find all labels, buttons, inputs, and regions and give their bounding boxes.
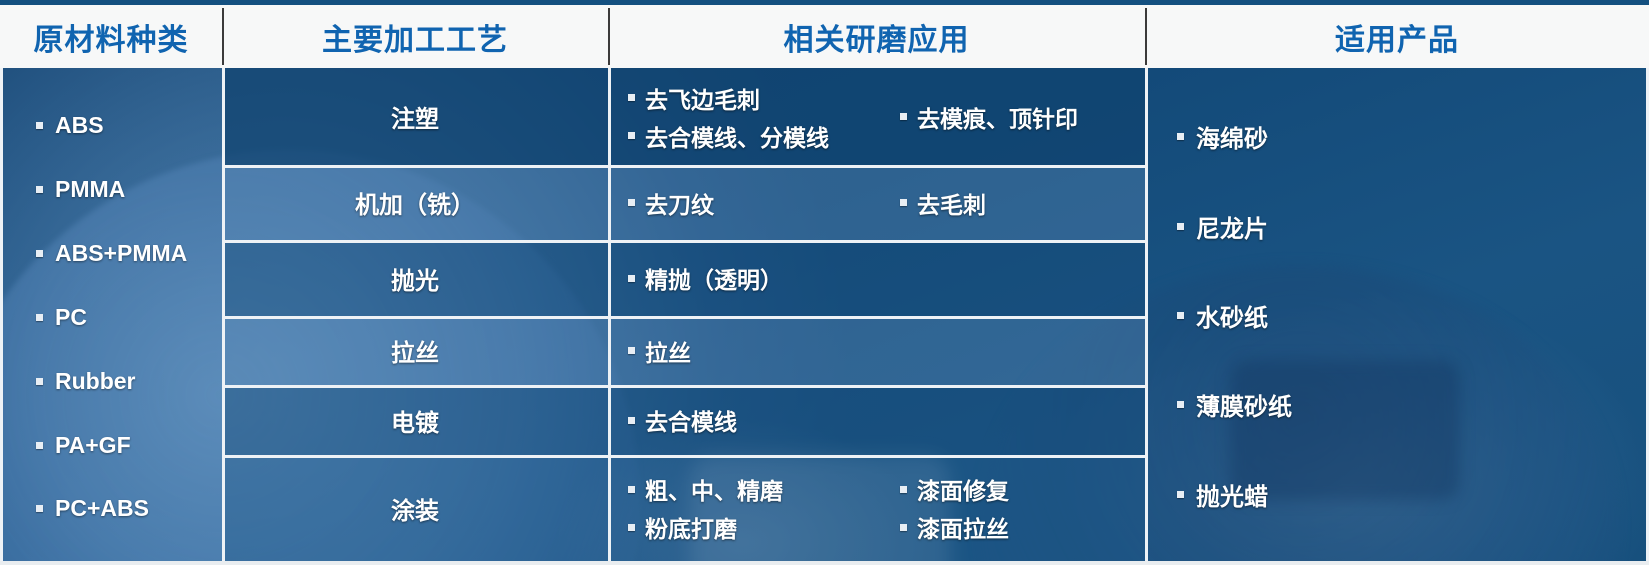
application-grid: 精抛（透明） xyxy=(608,261,1145,295)
raw-material-list: ABS PMMA ABS+PMMA PC Rubber xyxy=(0,68,222,561)
application-grid: 粗、中、精磨 粉底打磨 漆面修复 xyxy=(608,472,1145,544)
list-item: 漆面拉丝 xyxy=(900,510,1145,544)
square-bullet-icon xyxy=(628,94,635,101)
square-bullet-icon xyxy=(36,505,43,512)
list-item: 漆面修复 xyxy=(900,472,1145,506)
material-label: PC+ABS xyxy=(55,495,149,522)
product-list: 海绵砂 尼龙片 水砂纸 薄膜砂纸 抛光蜡 xyxy=(1145,68,1649,561)
list-item: PMMA xyxy=(36,176,222,203)
table-body: ABS PMMA ABS+PMMA PC Rubber xyxy=(0,68,1649,561)
list-item: 薄膜砂纸 xyxy=(1177,387,1649,422)
application-subcolumn-left: 拉丝 xyxy=(628,334,900,368)
application-label: 拉丝 xyxy=(645,334,691,368)
material-label: PMMA xyxy=(55,176,125,203)
application-label: 去毛刺 xyxy=(917,186,986,220)
product-label: 薄膜砂纸 xyxy=(1196,387,1292,422)
application-subcolumn-left: 去飞边毛刺 去合模线、分模线 xyxy=(628,81,900,153)
list-item: 粉底打磨 xyxy=(628,510,900,544)
table-row: 去刀纹 去毛刺 xyxy=(608,165,1145,240)
table-top-rim xyxy=(0,0,1649,5)
table-row: 注塑 xyxy=(222,68,608,165)
application-label: 去刀纹 xyxy=(645,186,714,220)
material-label: ABS xyxy=(55,112,104,139)
list-item: 水砂纸 xyxy=(1177,298,1649,333)
table-row: 拉丝 xyxy=(608,316,1145,385)
application-subcolumn-left: 粗、中、精磨 粉底打磨 xyxy=(628,472,900,544)
application-label: 去飞边毛刺 xyxy=(645,81,760,115)
application-label: 去模痕、顶针印 xyxy=(917,100,1078,134)
header-label-applicable-products: 适用产品 xyxy=(1335,15,1459,59)
list-item: PC xyxy=(36,304,222,331)
square-bullet-icon xyxy=(36,442,43,449)
process-label: 拉丝 xyxy=(222,333,608,368)
square-bullet-icon xyxy=(1177,223,1184,230)
square-bullet-icon xyxy=(36,122,43,129)
square-bullet-icon xyxy=(900,113,907,120)
application-subcolumn-right: 漆面修复 漆面拉丝 xyxy=(900,472,1145,544)
material-label: PC xyxy=(55,304,87,331)
application-label: 去合模线、分模线 xyxy=(645,119,829,153)
material-label: PA+GF xyxy=(55,432,131,459)
process-label: 涂装 xyxy=(222,491,608,526)
application-grid: 拉丝 xyxy=(608,334,1145,368)
header-cell-main-processing-technology: 主要加工工艺 xyxy=(222,5,608,68)
square-bullet-icon xyxy=(628,132,635,139)
column-raw-material-types: ABS PMMA ABS+PMMA PC Rubber xyxy=(0,68,222,561)
product-label: 海绵砂 xyxy=(1196,119,1268,154)
square-bullet-icon xyxy=(1177,312,1184,319)
list-item: 粗、中、精磨 xyxy=(628,472,900,506)
table-row: 粗、中、精磨 粉底打磨 漆面修复 xyxy=(608,455,1145,561)
header-cell-related-abrasive-applications: 相关研磨应用 xyxy=(608,5,1145,68)
square-bullet-icon xyxy=(36,250,43,257)
list-item: 去飞边毛刺 xyxy=(628,81,900,115)
application-label: 粗、中、精磨 xyxy=(645,472,783,506)
square-bullet-icon xyxy=(628,347,635,354)
product-label: 水砂纸 xyxy=(1196,298,1268,333)
spec-table: 原材料种类 主要加工工艺 相关研磨应用 适用产品 ABS PMMA xyxy=(0,0,1649,565)
column-applicable-products: 海绵砂 尼龙片 水砂纸 薄膜砂纸 抛光蜡 xyxy=(1145,68,1649,561)
application-subcolumn-right: 去毛刺 xyxy=(900,186,1145,220)
list-item: ABS xyxy=(36,112,222,139)
application-grid: 去合模线 xyxy=(608,403,1145,437)
list-item: ABS+PMMA xyxy=(36,240,222,267)
list-item: PA+GF xyxy=(36,432,222,459)
process-label: 注塑 xyxy=(222,99,608,134)
table-row: 涂装 xyxy=(222,455,608,561)
square-bullet-icon xyxy=(900,199,907,206)
table-row: 去合模线 xyxy=(608,385,1145,455)
process-label: 电镀 xyxy=(222,403,608,438)
material-label: Rubber xyxy=(55,368,136,395)
application-label: 粉底打磨 xyxy=(645,510,737,544)
list-item: 精抛（透明） xyxy=(628,261,900,295)
table-row: 电镀 xyxy=(222,385,608,455)
list-item: Rubber xyxy=(36,368,222,395)
list-item: 去毛刺 xyxy=(900,186,1145,220)
application-rows: 去飞边毛刺 去合模线、分模线 去模痕、顶针印 xyxy=(608,68,1145,561)
square-bullet-icon xyxy=(36,186,43,193)
application-label: 漆面拉丝 xyxy=(917,510,1009,544)
material-label: ABS+PMMA xyxy=(55,240,187,267)
product-label: 抛光蜡 xyxy=(1196,477,1268,512)
table-bottom-rim xyxy=(0,561,1649,565)
header-label-main-processing-technology: 主要加工工艺 xyxy=(322,15,508,59)
table-row: 抛光 xyxy=(222,240,608,316)
list-item: 去刀纹 xyxy=(628,186,900,220)
table-row: 机加（铣） xyxy=(222,165,608,240)
list-item: 抛光蜡 xyxy=(1177,477,1649,512)
square-bullet-icon xyxy=(900,524,907,531)
header-cell-raw-material-types: 原材料种类 xyxy=(0,5,222,68)
list-item: 拉丝 xyxy=(628,334,900,368)
list-item: 去模痕、顶针印 xyxy=(900,100,1145,134)
table-row: 拉丝 xyxy=(222,316,608,385)
header-label-raw-material-types: 原材料种类 xyxy=(34,15,189,59)
square-bullet-icon xyxy=(36,314,43,321)
process-label: 抛光 xyxy=(222,261,608,296)
table-header-row: 原材料种类 主要加工工艺 相关研磨应用 适用产品 xyxy=(0,5,1649,68)
column-main-processing-technology: 注塑 机加（铣） 抛光 拉丝 电镀 涂装 xyxy=(222,68,608,561)
application-grid: 去刀纹 去毛刺 xyxy=(608,186,1145,220)
list-item: PC+ABS xyxy=(36,495,222,522)
square-bullet-icon xyxy=(36,378,43,385)
square-bullet-icon xyxy=(1177,401,1184,408)
application-grid: 去飞边毛刺 去合模线、分模线 去模痕、顶针印 xyxy=(608,81,1145,153)
square-bullet-icon xyxy=(628,199,635,206)
square-bullet-icon xyxy=(628,486,635,493)
square-bullet-icon xyxy=(1177,133,1184,140)
square-bullet-icon xyxy=(1177,491,1184,498)
square-bullet-icon xyxy=(900,486,907,493)
application-subcolumn-left: 去刀纹 xyxy=(628,186,900,220)
square-bullet-icon xyxy=(628,524,635,531)
square-bullet-icon xyxy=(628,417,635,424)
application-label: 精抛（透明） xyxy=(645,261,783,295)
list-item: 尼龙片 xyxy=(1177,209,1649,244)
list-item: 去合模线 xyxy=(628,403,900,437)
application-label: 去合模线 xyxy=(645,403,737,437)
table-row: 去飞边毛刺 去合模线、分模线 去模痕、顶针印 xyxy=(608,68,1145,165)
product-label: 尼龙片 xyxy=(1196,209,1268,244)
application-subcolumn-left: 精抛（透明） xyxy=(628,261,900,295)
process-rows: 注塑 机加（铣） 抛光 拉丝 电镀 涂装 xyxy=(222,68,608,561)
header-label-related-abrasive-applications: 相关研磨应用 xyxy=(784,15,970,59)
process-label: 机加（铣） xyxy=(222,185,608,220)
table-row: 精抛（透明） xyxy=(608,240,1145,316)
list-item: 海绵砂 xyxy=(1177,119,1649,154)
application-label: 漆面修复 xyxy=(917,472,1009,506)
square-bullet-icon xyxy=(628,275,635,282)
application-subcolumn-left: 去合模线 xyxy=(628,403,900,437)
list-item: 去合模线、分模线 xyxy=(628,119,900,153)
header-cell-applicable-products: 适用产品 xyxy=(1145,5,1649,68)
column-related-abrasive-applications: 去飞边毛刺 去合模线、分模线 去模痕、顶针印 xyxy=(608,68,1145,561)
application-subcolumn-right: 去模痕、顶针印 xyxy=(900,81,1145,153)
